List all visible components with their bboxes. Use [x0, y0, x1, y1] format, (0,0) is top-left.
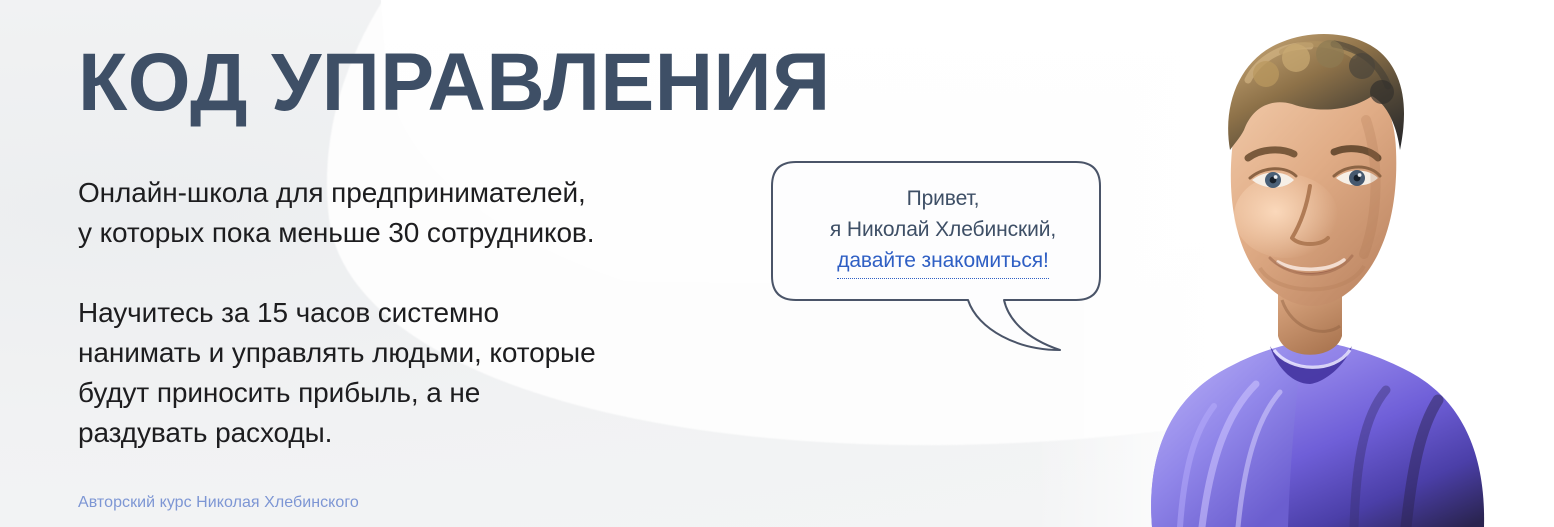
hero-body-line-1: Научитесь за 15 часов системно	[78, 293, 738, 333]
speech-bubble-text: Привет, я Николай Хлебинский, давайте зн…	[780, 184, 1106, 279]
hero-banner: КОД УПРАВЛЕНИЯ Онлайн-школа для предприн…	[0, 0, 1554, 527]
page-title: КОД УПРАВЛЕНИЯ	[78, 44, 768, 121]
hero-body-line-2: нанимать и управлять людьми, которые	[78, 333, 738, 373]
hero-body-line-3: будут приносить прибыль, а не	[78, 373, 738, 413]
hero-background-right-fade	[1034, 0, 1554, 527]
bubble-line-name: я Николай Хлебинский,	[780, 215, 1106, 246]
hero-body-copy: Научитесь за 15 часов системно нанимать …	[78, 293, 738, 453]
get-acquainted-link[interactable]: давайте знакомиться!	[837, 246, 1049, 279]
hero-lede-line-1: Онлайн-школа для предпринимателей,	[78, 173, 778, 213]
bubble-line-greeting: Привет,	[780, 184, 1106, 215]
speech-bubble: Привет, я Николай Хлебинский, давайте зн…	[772, 158, 1112, 358]
hero-lede-line-2: у которых пока меньше 30 сотрудников.	[78, 213, 778, 253]
hero-body-line-4: раздувать расходы.	[78, 413, 738, 453]
author-byline: Авторский курс Николая Хлебинского	[78, 493, 778, 514]
hero-lede: Онлайн-школа для предпринимателей, у кот…	[78, 173, 778, 253]
hero-copy-column: КОД УПРАВЛЕНИЯ Онлайн-школа для предприн…	[78, 44, 778, 514]
bubble-link-wrapper: давайте знакомиться!	[780, 246, 1106, 279]
